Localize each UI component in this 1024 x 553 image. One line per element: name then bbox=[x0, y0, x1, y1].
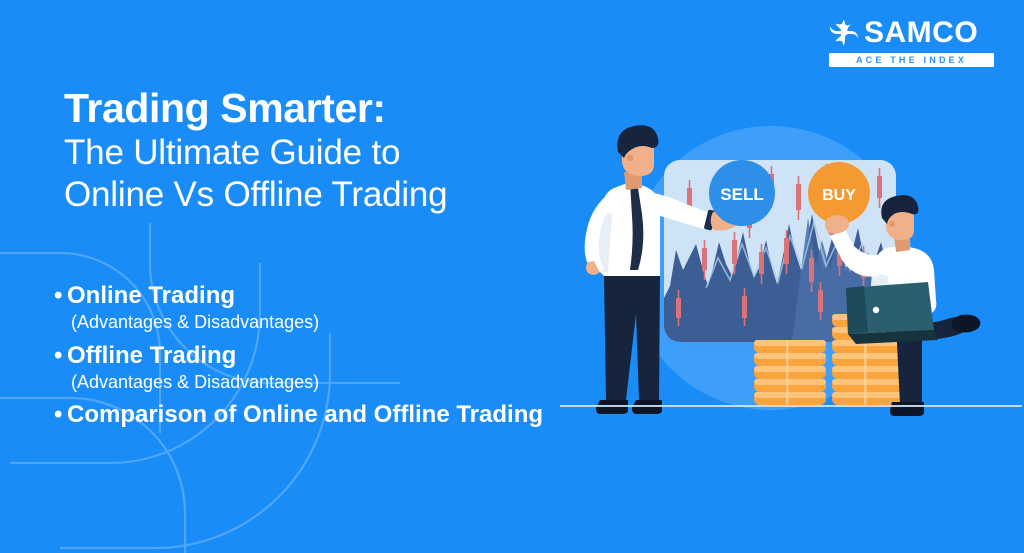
bullet-dot-icon: • bbox=[54, 401, 67, 429]
logo-tagline: ACE THE INDEX bbox=[856, 56, 967, 65]
bullet-subtitle: (Advantages & Disadvantages) bbox=[54, 371, 543, 394]
standing-trader-trousers bbox=[604, 276, 660, 400]
bullet-dot-icon: • bbox=[54, 342, 67, 370]
list-item: • Offline Trading (Advantages & Disadvan… bbox=[54, 342, 543, 395]
bullet-subtitle: (Advantages & Disadvantages) bbox=[54, 311, 543, 334]
samco-wordmark: SAMCO bbox=[864, 18, 978, 48]
buy-button-label: BUY bbox=[822, 187, 856, 204]
standing-trader-ear bbox=[627, 155, 634, 162]
buy-button[interactable]: BUY bbox=[808, 162, 870, 224]
logo-tagline-bar: ACE THE INDEX bbox=[829, 53, 994, 67]
ground-line bbox=[560, 405, 1022, 407]
list-item: • Comparison of Online and Offline Tradi… bbox=[54, 401, 543, 429]
sell-button[interactable]: SELL bbox=[709, 160, 775, 226]
topic-list: • Online Trading (Advantages & Disadvant… bbox=[54, 282, 543, 434]
list-item: • Online Trading (Advantages & Disadvant… bbox=[54, 282, 543, 335]
seated-trader-ear bbox=[889, 221, 895, 227]
headline-line-3: Online Vs Offline Trading bbox=[64, 174, 447, 215]
samco-logo[interactable]: SAMCO ACE THE INDEX bbox=[829, 18, 994, 67]
bullet-title-row: • Comparison of Online and Offline Tradi… bbox=[54, 401, 543, 429]
laptop bbox=[846, 282, 938, 344]
samco-pinwheel-icon bbox=[829, 18, 859, 48]
seated-trader-shoe-down bbox=[890, 402, 924, 416]
headline-line-2: The Ultimate Guide to bbox=[64, 132, 447, 173]
bullet-title-row: • Online Trading bbox=[54, 282, 543, 310]
bullet-title-row: • Offline Trading bbox=[54, 342, 543, 370]
promo-banner: SAMCO ACE THE INDEX Trading Smarter: The… bbox=[0, 0, 1024, 553]
sell-button-label: SELL bbox=[720, 185, 763, 204]
bullet-dot-icon: • bbox=[54, 282, 67, 310]
headline-block: Trading Smarter: The Ultimate Guide to O… bbox=[64, 84, 447, 215]
headline-line-1: Trading Smarter: bbox=[64, 84, 447, 132]
coin-stack-short bbox=[754, 340, 826, 405]
online-vs-offline-trading-illustration: SELL BUY bbox=[556, 118, 1024, 418]
bullet-title: Offline Trading bbox=[67, 342, 236, 370]
bullet-title: Comparison of Online and Offline Trading bbox=[67, 401, 543, 429]
bullet-title: Online Trading bbox=[67, 282, 235, 310]
